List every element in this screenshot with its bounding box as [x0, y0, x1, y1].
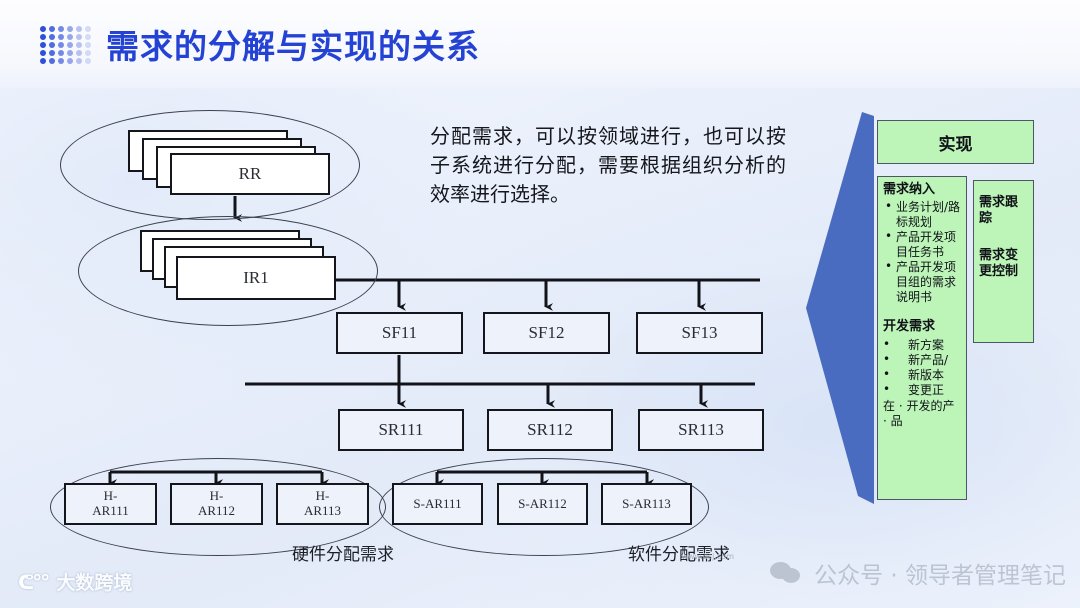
requirement-tracking-label: 需求跟踪: [979, 195, 1029, 228]
list-item: 变更正: [896, 383, 962, 398]
node-sf11[interactable]: SF11: [336, 312, 463, 354]
node-sf11-label: SF11: [382, 323, 417, 343]
development-requirement-heading: 开发需求: [883, 319, 962, 335]
node-s-ar111-label: S-AR111: [413, 497, 461, 512]
node-sr112[interactable]: SR112: [487, 409, 613, 451]
node-s-ar111[interactable]: S-AR111: [392, 483, 483, 525]
watermark-right-text: 公众号 · 领导者管理笔记: [814, 556, 1066, 590]
development-requirement-list: 新方案 新产品/ 新版本 变更正: [883, 338, 962, 398]
node-s-ar112[interactable]: S-AR112: [497, 483, 588, 525]
watermark-right: 公众号 · 领导者管理笔记: [770, 556, 1066, 590]
brand-logo-icon: ᕦ°°: [18, 570, 48, 594]
implementation-header-label: 实现: [939, 130, 973, 155]
node-s-ar113-label: S-AR113: [622, 497, 671, 512]
node-s-ar113[interactable]: S-AR113: [601, 483, 692, 525]
requirement-intake-heading: 需求纳入: [883, 182, 962, 198]
implementation-left-column: 需求纳入 业务计划/路标规划 产品开发项目任务书 产品开发项目组的需求说明书 开…: [877, 176, 967, 500]
node-sf12[interactable]: SF12: [483, 312, 610, 354]
list-item: 新产品/: [896, 353, 962, 368]
node-ir1[interactable]: IR1: [176, 256, 336, 300]
node-sf13[interactable]: SF13: [636, 312, 763, 354]
slide-canvas: 需求的分解与实现的关系: [0, 0, 1080, 608]
list-item: 新版本: [896, 368, 962, 383]
node-h-ar111-label: H- AR111: [92, 489, 129, 519]
node-rr-label: RR: [239, 164, 262, 184]
requirement-change-control-label: 需求变更控制: [979, 248, 1029, 281]
node-h-ar112[interactable]: H- AR112: [170, 483, 263, 525]
page-title: 需求的分解与实现的关系: [106, 20, 480, 68]
wechat-icon: [770, 561, 804, 585]
node-sf12-label: SF12: [529, 323, 565, 343]
watermark-left-text: 大数跨境: [56, 568, 132, 595]
list-item: 产品开发项目组的需求说明书: [896, 260, 962, 305]
list-item: 产品开发项目任务书: [896, 230, 962, 260]
node-sr111-label: SR111: [378, 420, 423, 440]
requirement-intake-list: 业务计划/路标规划 产品开发项目任务书 产品开发项目组的需求说明书: [883, 200, 962, 305]
development-requirement-runon: 在 · 开发的产 · 品: [883, 399, 962, 429]
node-h-ar111[interactable]: H- AR111: [64, 483, 157, 525]
node-rr[interactable]: RR: [170, 153, 330, 195]
node-sr112-label: SR112: [527, 420, 573, 440]
node-h-ar113-label: H- AR113: [304, 489, 341, 519]
implementation-right-column: 需求跟踪 需求变更控制: [973, 180, 1034, 343]
node-sf13-label: SF13: [682, 323, 718, 343]
list-item: 业务计划/路标规划: [896, 200, 962, 230]
node-h-ar112-label: H- AR112: [198, 489, 235, 519]
dot-matrix-icon: [40, 26, 96, 66]
implementation-header: 实现: [877, 120, 1034, 164]
node-sr113-label: SR113: [678, 420, 724, 440]
list-item: 新方案: [896, 338, 962, 353]
node-sr111[interactable]: SR111: [338, 409, 464, 451]
explanatory-note: 分配需求，可以按领域进行，也可以按子系统进行分配，需要根据组织分析的效率进行选择…: [430, 122, 786, 209]
node-h-ar113[interactable]: H- AR113: [276, 483, 369, 525]
node-s-ar112-label: S-AR112: [518, 497, 567, 512]
watermark-left: ᕦ°° 大数跨境: [18, 568, 132, 595]
node-ir1-label: IR1: [243, 268, 269, 288]
node-sr113[interactable]: SR113: [638, 409, 764, 451]
watermark-tiny-url: www.dsj.com: [681, 552, 734, 561]
hardware-group-caption: 硬件分配需求: [292, 540, 394, 565]
